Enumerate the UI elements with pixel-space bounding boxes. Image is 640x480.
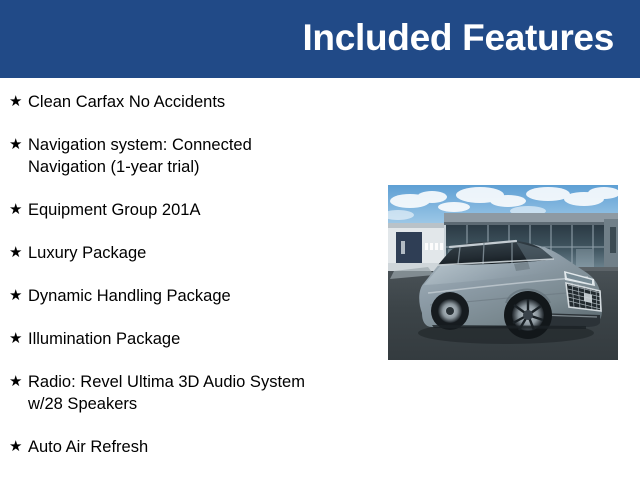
star-icon: ★: [9, 242, 28, 264]
feature-label: Dynamic Handling Package: [28, 285, 380, 307]
list-item: ★ Clean Carfax No Accidents: [0, 91, 380, 113]
list-item: ★ Navigation system: Connected Navigatio…: [0, 134, 380, 178]
list-item: ★ Illumination Package: [0, 328, 380, 350]
star-icon: ★: [9, 328, 28, 350]
list-item: ★ Radio: Revel Ultima 3D Audio System w/…: [0, 371, 380, 415]
page-title: Included Features: [302, 14, 614, 62]
feature-label: Equipment Group 201A: [28, 199, 380, 221]
list-item: ★ Dynamic Handling Package: [0, 285, 380, 307]
feature-label: Luxury Package: [28, 242, 380, 264]
feature-label: Illumination Package: [28, 328, 380, 350]
feature-label: Auto Air Refresh: [28, 436, 380, 458]
vehicle-photo-image: [388, 185, 618, 360]
star-icon: ★: [9, 285, 28, 307]
star-icon: ★: [9, 91, 28, 113]
star-icon: ★: [9, 371, 28, 393]
page-header: Included Features: [0, 0, 640, 78]
star-icon: ★: [9, 199, 28, 221]
feature-label: Radio: Revel Ultima 3D Audio System w/28…: [28, 371, 380, 415]
feature-label: Navigation system: Connected Navigation …: [28, 134, 380, 178]
vehicle-photo: [388, 185, 618, 360]
feature-label: Clean Carfax No Accidents: [28, 91, 380, 113]
star-icon: ★: [9, 134, 28, 156]
content-area: ★ Clean Carfax No Accidents ★ Navigation…: [0, 78, 640, 480]
star-icon: ★: [9, 436, 28, 458]
list-item: ★ Auto Air Refresh: [0, 436, 380, 458]
included-features-list: ★ Clean Carfax No Accidents ★ Navigation…: [0, 91, 380, 479]
list-item: ★ Equipment Group 201A: [0, 199, 380, 221]
list-item: ★ Luxury Package: [0, 242, 380, 264]
